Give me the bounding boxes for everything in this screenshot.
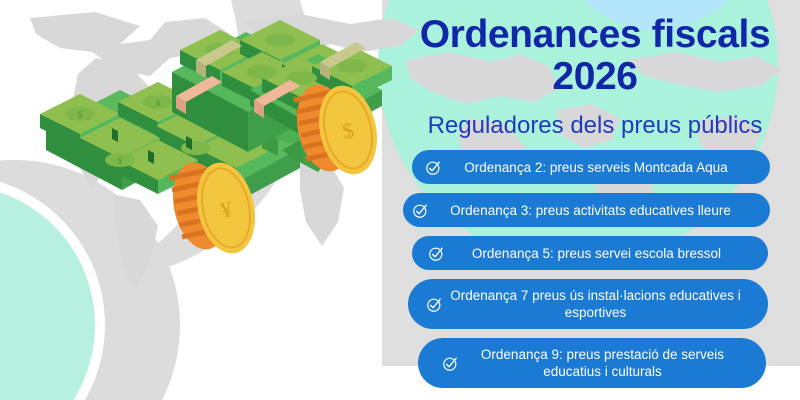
list-item[interactable]: Ordenança 9: preus prestació de serveis … <box>418 338 766 388</box>
check-circle-icon <box>426 296 443 313</box>
page-title: Ordenances fiscals 2026 <box>390 14 800 98</box>
list-item[interactable]: Ordenança 2: preus serveis Montcada Aqua <box>412 150 770 184</box>
check-circle-icon <box>412 202 429 219</box>
list-item-label: Ordenança 9: preus prestació de serveis … <box>459 346 754 380</box>
check-circle-icon <box>442 355 459 372</box>
poster-canvas: $ $ $ <box>0 0 800 400</box>
check-circle-icon <box>425 159 442 176</box>
list-item[interactable]: Ordenança 5: preus servei escola bressol <box>412 236 768 270</box>
list-item-label: Ordenança 2: preus serveis Montcada Aqua <box>442 159 758 176</box>
check-circle-icon <box>428 245 445 262</box>
list-item[interactable]: Ordenança 3: preus activitats educatives… <box>403 193 770 227</box>
list-item-label: Ordenança 5: preus servei escola bressol <box>445 245 756 262</box>
title-line-2: 2026 <box>390 56 800 98</box>
list-item-label: Ordenança 7 preus ús instal·lacions educ… <box>443 287 756 321</box>
svg-text:$: $ <box>118 156 123 166</box>
list-item-label: Ordenança 3: preus activitats educatives… <box>429 202 760 219</box>
svg-text:$: $ <box>156 98 161 108</box>
content-panel: Ordenances fiscals 2026 Reguladores dels… <box>390 0 800 400</box>
list-item[interactable]: Ordenança 7 preus ús instal·lacions educ… <box>408 279 768 329</box>
page-subtitle: Reguladores dels preus públics <box>390 112 800 140</box>
svg-text:$: $ <box>78 110 83 120</box>
title-line-1: Ordenances fiscals <box>390 14 800 56</box>
money-illustration: $ $ $ <box>0 0 400 300</box>
ordinance-list: Ordenança 2: preus serveis Montcada Aqua… <box>390 150 800 397</box>
